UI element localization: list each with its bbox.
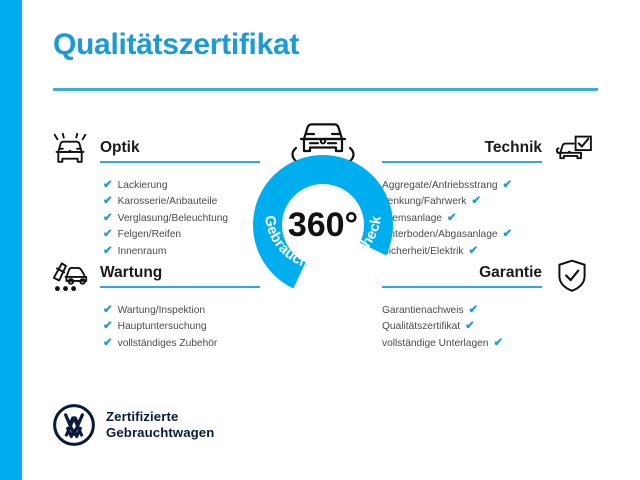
section-wartung-underline [100, 286, 260, 288]
section-garantie-header: Garantie [382, 258, 594, 294]
list-item: ✔Felgen/Reifen [103, 227, 260, 243]
car-headlights-icon [48, 133, 92, 169]
list-item: ✔Lackierung [103, 178, 260, 194]
check-icon: ✔ [493, 338, 503, 350]
section-garantie-title: Garantie [382, 264, 542, 286]
left-accent-bar [0, 0, 22, 480]
section-garantie-underline [382, 286, 542, 288]
section-technik-title: Technik [382, 139, 542, 161]
section-optik-list: ✔Lackierung ✔Karosserie/Anbauteile ✔Verg… [48, 178, 260, 260]
section-technik-list: ✔Aggregate/Antriebsstrang ✔Lenkung/Fahrw… [382, 178, 594, 260]
list-item: ✔Wartung/Inspektion [103, 303, 260, 319]
check-icon: ✔ [503, 180, 513, 192]
check-icon: ✔ [469, 246, 479, 258]
section-technik-title-wrap: Technik [382, 133, 542, 163]
check-icon: ✔ [103, 246, 113, 258]
section-garantie: Garantie ✔Garantienachweis ✔Qualitätszer… [382, 258, 594, 352]
certificate-page: Qualitätszertifikat [0, 0, 640, 480]
check-icon: ✔ [103, 321, 113, 333]
check-icon: ✔ [103, 305, 113, 317]
section-optik-title-wrap: Optik [100, 133, 260, 163]
section-optik: Optik ✔Lackierung ✔Karosserie/Anbauteile… [48, 133, 260, 260]
section-wartung-list: ✔Wartung/Inspektion ✔Hauptuntersuchung ✔… [48, 303, 260, 352]
check-icon: ✔ [103, 338, 113, 350]
check-icon: ✔ [447, 213, 457, 225]
vw-label-line2: Gebrauchtwagen [106, 425, 214, 441]
badge-center-text: 360° [288, 206, 358, 244]
vw-label-line1: Zertifizierte [106, 409, 214, 425]
list-item-label: Wartung/Inspektion [118, 303, 205, 319]
list-item-label: Lackierung [118, 178, 168, 194]
check-icon: ✔ [103, 180, 113, 192]
section-garantie-list: ✔Garantienachweis ✔Qualitätszertifikat ✔… [382, 303, 594, 352]
page-title: Qualitätszertifikat [53, 30, 299, 60]
vw-certified-label: Zertifizierte Gebrauchtwagen [106, 409, 214, 441]
check-icon: ✔ [503, 229, 513, 241]
check-icon: ✔ [471, 196, 481, 208]
list-item-label: Hauptuntersuchung [118, 319, 207, 335]
title-divider [53, 88, 598, 91]
list-item: ✔Lenkung/Fahrwerk [382, 194, 594, 210]
list-item: ✔Karosserie/Anbauteile [103, 194, 260, 210]
check-icon: ✔ [103, 213, 113, 225]
check-icon: ✔ [103, 196, 113, 208]
list-item: ✔Unterboden/Abgasanlage [382, 227, 594, 243]
list-item: ✔vollständiges Zubehör [103, 336, 260, 352]
section-optik-underline [100, 161, 260, 163]
section-optik-title: Optik [100, 139, 260, 161]
section-garantie-title-wrap: Garantie [382, 258, 542, 288]
list-item-label: Unterboden/Abgasanlage [382, 227, 498, 243]
car-checklist-icon [550, 133, 594, 169]
car-service-wrench-icon [48, 258, 92, 294]
section-technik: Technik ✔Aggregate/Antriebsstrang ✔Lenku… [382, 133, 594, 260]
section-wartung: Wartung ✔Wartung/Inspektion ✔Hauptunters… [48, 258, 260, 352]
shield-check-icon [550, 258, 594, 294]
badge-360-gebrauchtwagen-check: 360° Gebrauchtwagen-Check [248, 108, 398, 308]
list-item: ✔Hauptuntersuchung [103, 319, 260, 335]
list-item-label: Felgen/Reifen [118, 227, 181, 243]
list-item-label: vollständige Unterlagen [382, 336, 488, 352]
list-item: ✔Verglasung/Beleuchtung [103, 211, 260, 227]
check-icon: ✔ [103, 229, 113, 241]
list-item: ✔vollständige Unterlagen [382, 336, 594, 352]
section-wartung-title-wrap: Wartung [100, 258, 260, 288]
list-item-label: Karosserie/Anbauteile [118, 194, 218, 210]
check-icon: ✔ [469, 305, 479, 317]
section-technik-underline [382, 161, 542, 163]
section-wartung-header: Wartung [48, 258, 260, 294]
list-item-label: Verglasung/Beleuchtung [118, 211, 228, 227]
list-item: ✔Garantienachweis [382, 303, 594, 319]
vw-certified-footer: Zertifizierte Gebrauchtwagen [53, 404, 214, 446]
check-icon: ✔ [465, 321, 475, 333]
vw-logo [53, 404, 95, 446]
section-wartung-title: Wartung [100, 264, 260, 286]
list-item: ✔Bremsanlage [382, 211, 594, 227]
section-technik-header: Technik [382, 133, 594, 169]
list-item: ✔Aggregate/Antriebsstrang [382, 178, 594, 194]
list-item-label: Aggregate/Antriebsstrang [382, 178, 498, 194]
section-optik-header: Optik [48, 133, 260, 169]
list-item: ✔Qualitätszertifikat [382, 319, 594, 335]
list-item-label: vollständiges Zubehör [118, 336, 218, 352]
list-item-label: Qualitätszertifikat [382, 319, 460, 335]
